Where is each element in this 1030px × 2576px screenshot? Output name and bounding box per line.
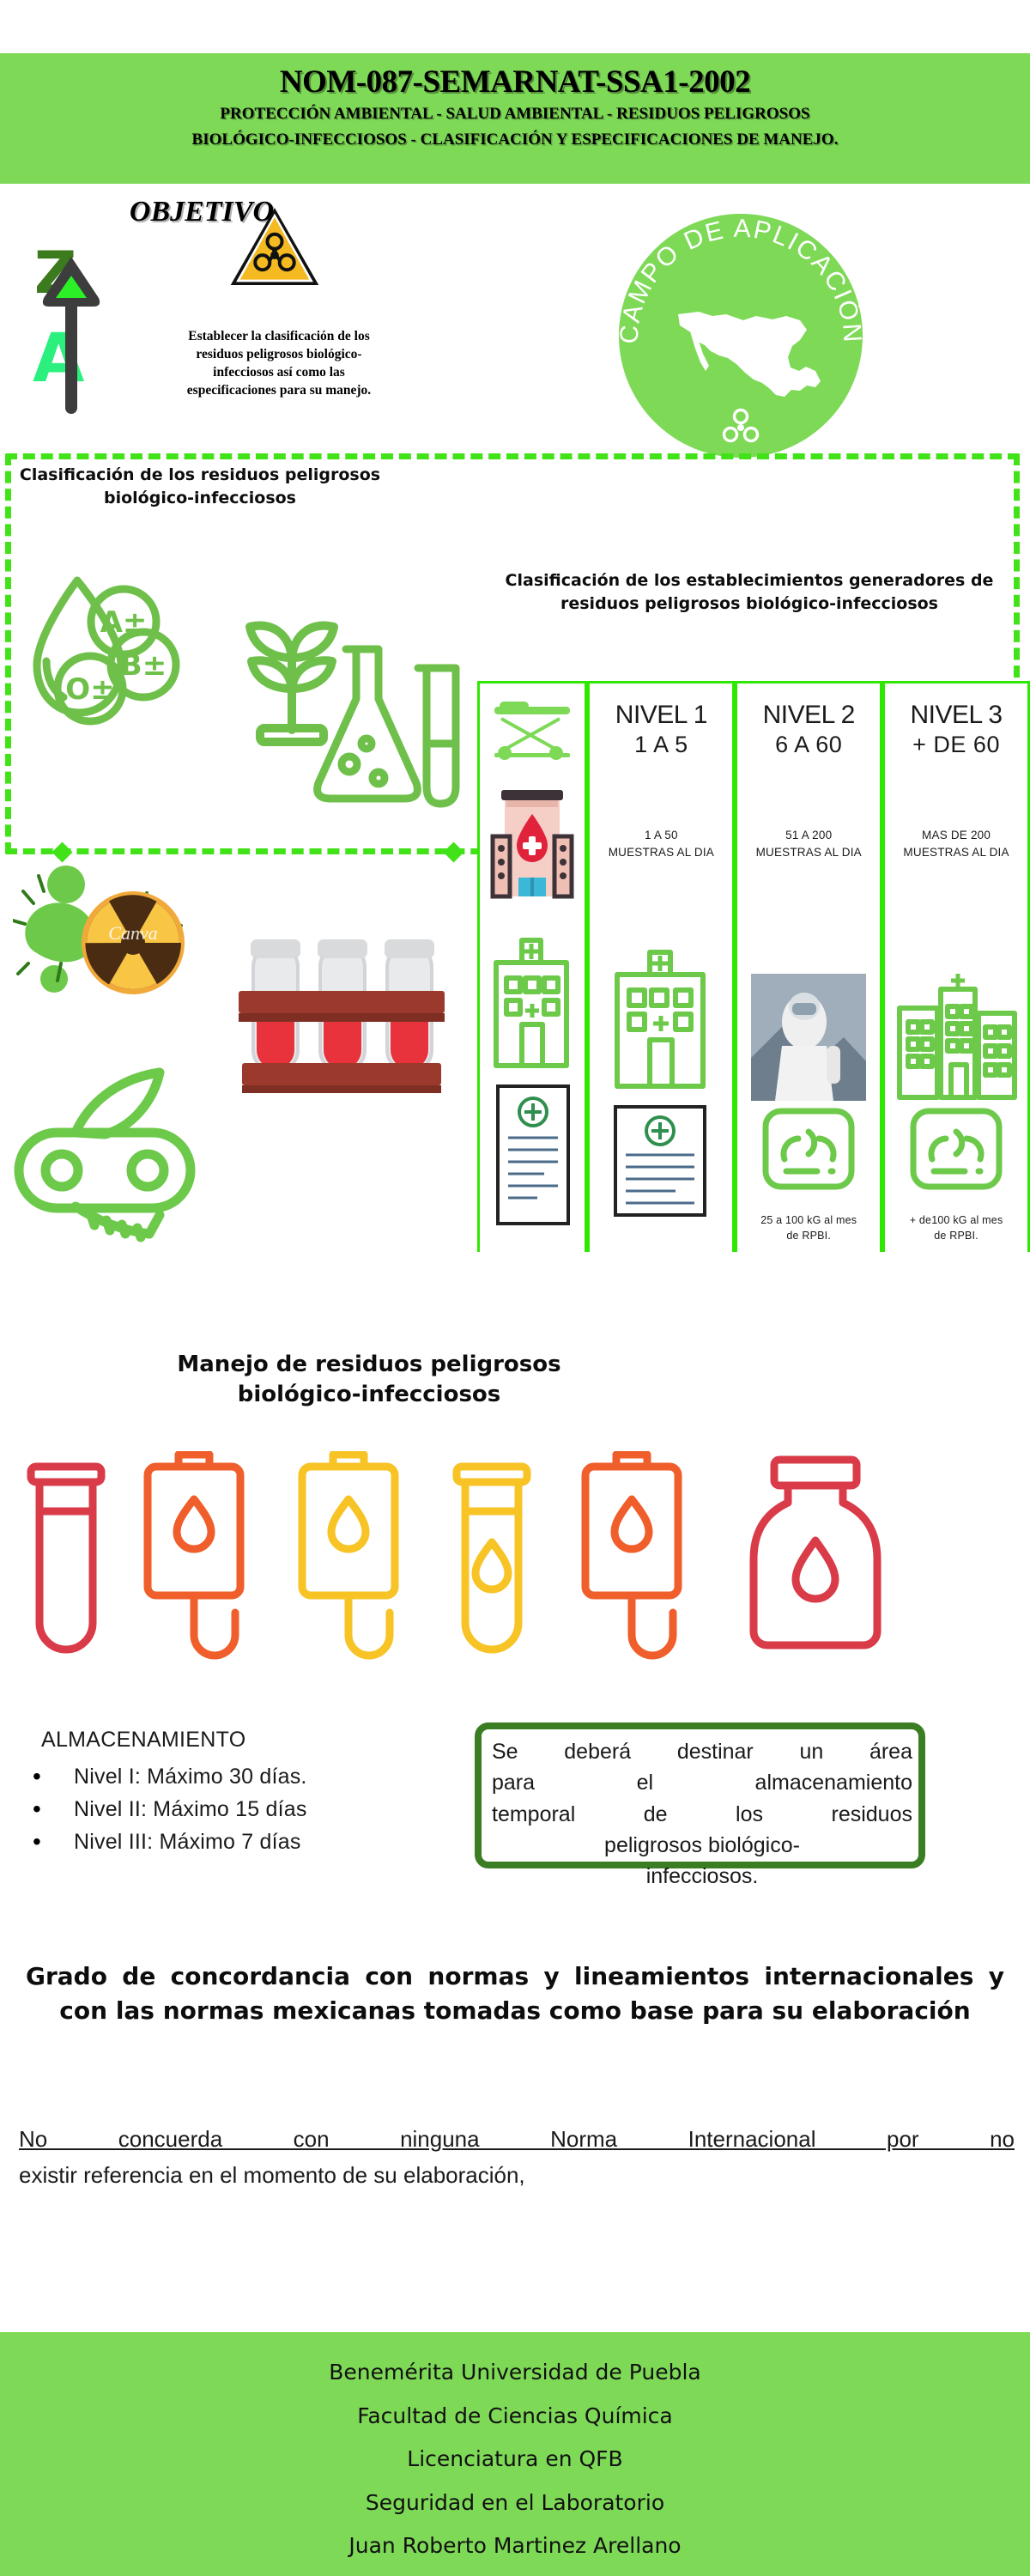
nivel-2-range: 6 A 60 [775,729,842,762]
footer-line: Licenciatura en QFB [407,2438,622,2482]
list-item: Nivel II: Máximo 15 días [26,1793,472,1826]
clasificacion-residuos-title: Clasificación de los residuos peligrosos… [7,464,393,510]
table-cell-nivel-1: NIVEL 1 1 A 5 [590,683,732,780]
biohazard-bin-icon [760,1106,857,1192]
lab-worker-photo [744,969,873,1106]
manejo-heading: Manejo de residuos peligrosos biológico-… [129,1350,609,1410]
callout-line-4: peligrosos biológico- [492,1830,912,1861]
almacenamiento-callout-text: Se deberá destinar un área para el almac… [492,1736,912,1892]
red-tube-icon [31,1467,101,1649]
table-cell-muestras-2: 51 A 200 MUESTRAS AL DIA [737,780,880,908]
callout-line-5: infecciosos. [492,1861,912,1892]
table-cell-stretcher-icon [480,683,585,780]
footer-banner: Benemérita Universidad de Puebla Faculta… [0,2332,1030,2576]
up-arrow-icon [15,245,106,425]
table-row-levels: NIVEL 1 1 A 5 NIVEL 2 6 A 60 NIVEL 3 + D… [477,681,1030,777]
footer-line: Juan Roberto Martinez Arellano [348,2524,681,2568]
biohazard-bin-icon [908,1106,1004,1192]
flask-test-tubes-icon [296,635,476,837]
blood-type-b: B± [120,648,167,683]
orange-iv-bag-icon [148,1455,240,1656]
almacenamiento-heading: ALMACENAMIENTO [41,1728,246,1753]
hospital-document-icon [484,921,580,1239]
rpbi-2-note: 25 a 100 kG al mes de RPBI. [737,1212,880,1243]
table-row-muestras: 1 A 50 MUESTRAS AL DIA 51 A 200 MUESTRAS… [477,777,1030,906]
yellow-tube-icon [457,1467,527,1649]
blood-sample-tubes-icon [232,927,463,1099]
nivel-1-range: 1 A 5 [634,729,688,762]
nivel-2-name: NIVEL 2 [763,702,855,729]
rpbi-3-note-line1: + de100 kG al mes [885,1212,1027,1228]
rpbi-3-note-line2: de RPBI. [885,1228,1027,1243]
table-cell-muestras-3: MAS DE 200 MUESTRAS AL DIA [885,780,1027,908]
nivel-3-range: + DE 60 [912,729,1000,762]
waste-containers-row [19,1451,1015,1709]
table-cell-muestras-1: 1 A 50 MUESTRAS AL DIA [590,780,732,908]
generadores-table: NIVEL 1 1 A 5 NIVEL 2 6 A 60 NIVEL 3 + D… [477,681,1030,1252]
header-subtitle-line2: BIOLÓGICO-INFECCIOSOS - CLASIFICACIÓN Y … [192,127,839,152]
header-banner: NOM-087-SEMARNAT-SSA1-2002 PROTECCIÓN AM… [0,53,1030,184]
za-arrow-logo: Z A [15,245,106,425]
footer-line: Benemérita Universidad de Puebla [329,2351,701,2395]
header-subtitle-line1: PROTECCIÓN AMBIENTAL - SALUD AMBIENTAL -… [220,101,809,126]
rpbi-2-note-line2: de RPBI. [737,1228,880,1243]
table-cell-rpbi-2: 25 a 100 kG al mes de RPBI. [737,908,880,1252]
hospital-building-icon [597,939,725,1222]
footer-line: Facultad de Ciencias Química [357,2395,673,2439]
nivel-1-name: NIVEL 1 [615,702,707,729]
nivel-3-name: NIVEL 3 [911,702,1003,729]
radiation-symbol-icon: Canva [73,881,185,994]
muestras-1-count: 1 A 50 [645,827,678,844]
grado-concordancia-body: No concuerda con ninguna Norma Internaci… [19,2121,1015,2193]
campo-de-aplicacion-badge: CAMPO DE APLICACIÓN [616,211,865,460]
rpbi-3-note: + de100 kG al mes de RPBI. [885,1212,1027,1243]
red-sharps-container-icon [754,1460,877,1645]
clasificacion-establecimientos-title: Clasificación de los establecimientos ge… [488,569,1011,616]
pocket-knife-icon [9,1043,223,1245]
callout-line-2: para el almacenamiento [492,1767,912,1798]
table-cell-nivel-2: NIVEL 2 6 A 60 [737,683,880,780]
table-cell-rpbi-3: + de100 kG al mes de RPBI. [885,908,1027,1252]
stretcher-icon [488,700,577,763]
callout-line-1: Se deberá destinar un área [492,1736,912,1767]
footer-line: Seguridad en el Laboratorio [366,2482,664,2525]
muestras-1-unit: MUESTRAS AL DIA [609,844,714,861]
biohazard-warning-sign-icon [227,204,322,290]
table-cell-hospital-document-icon [480,908,585,1252]
list-item: Nivel III: Máximo 7 días [26,1826,472,1858]
table-row-rpbi: 25 a 100 kG al mes de RPBI. [477,906,1030,1249]
yellow-iv-bag-icon [302,1455,395,1656]
hospital-complex-icon [891,969,1021,1106]
table-cell-clinic-icon [480,780,585,908]
clinic-building-icon [488,783,577,905]
rpbi-2-note-line1: 25 a 100 kG al mes [737,1212,880,1228]
muestras-2-unit: MUESTRAS AL DIA [756,844,862,861]
muestras-2-count: 51 A 200 [785,827,832,844]
table-cell-nivel-3: NIVEL 3 + DE 60 [885,683,1027,780]
objetivo-text: Establecer la clasificación de los resid… [167,328,391,400]
grado-body-line1: No concuerda con ninguna Norma Internaci… [19,2121,1015,2157]
muestras-3-unit: MUESTRAS AL DIA [903,844,1009,861]
blood-type-a: A± [100,605,148,640]
grado-body-line2: existir referencia en el momento de su e… [19,2157,1015,2193]
orange-iv-bag-icon-2 [585,1455,678,1656]
almacenamiento-list: Nivel I: Máximo 30 días. Nivel II: Máxim… [26,1760,472,1858]
table-cell-rpbi-1 [590,908,732,1252]
list-item: Nivel I: Máximo 30 días. [26,1760,472,1793]
blood-drop-types-icon: A± B± O± [26,568,206,753]
svg-text:Canva: Canva [108,922,157,944]
callout-line-3: temporal de los residuos [492,1799,912,1830]
blood-type-o: O± [65,672,114,707]
muestras-3-count: MAS DE 200 [922,827,991,844]
grado-concordancia-heading: Grado de concordancia con normas y linea… [26,1959,1004,2028]
page-title: NOM-087-SEMARNAT-SSA1-2002 [280,64,750,101]
